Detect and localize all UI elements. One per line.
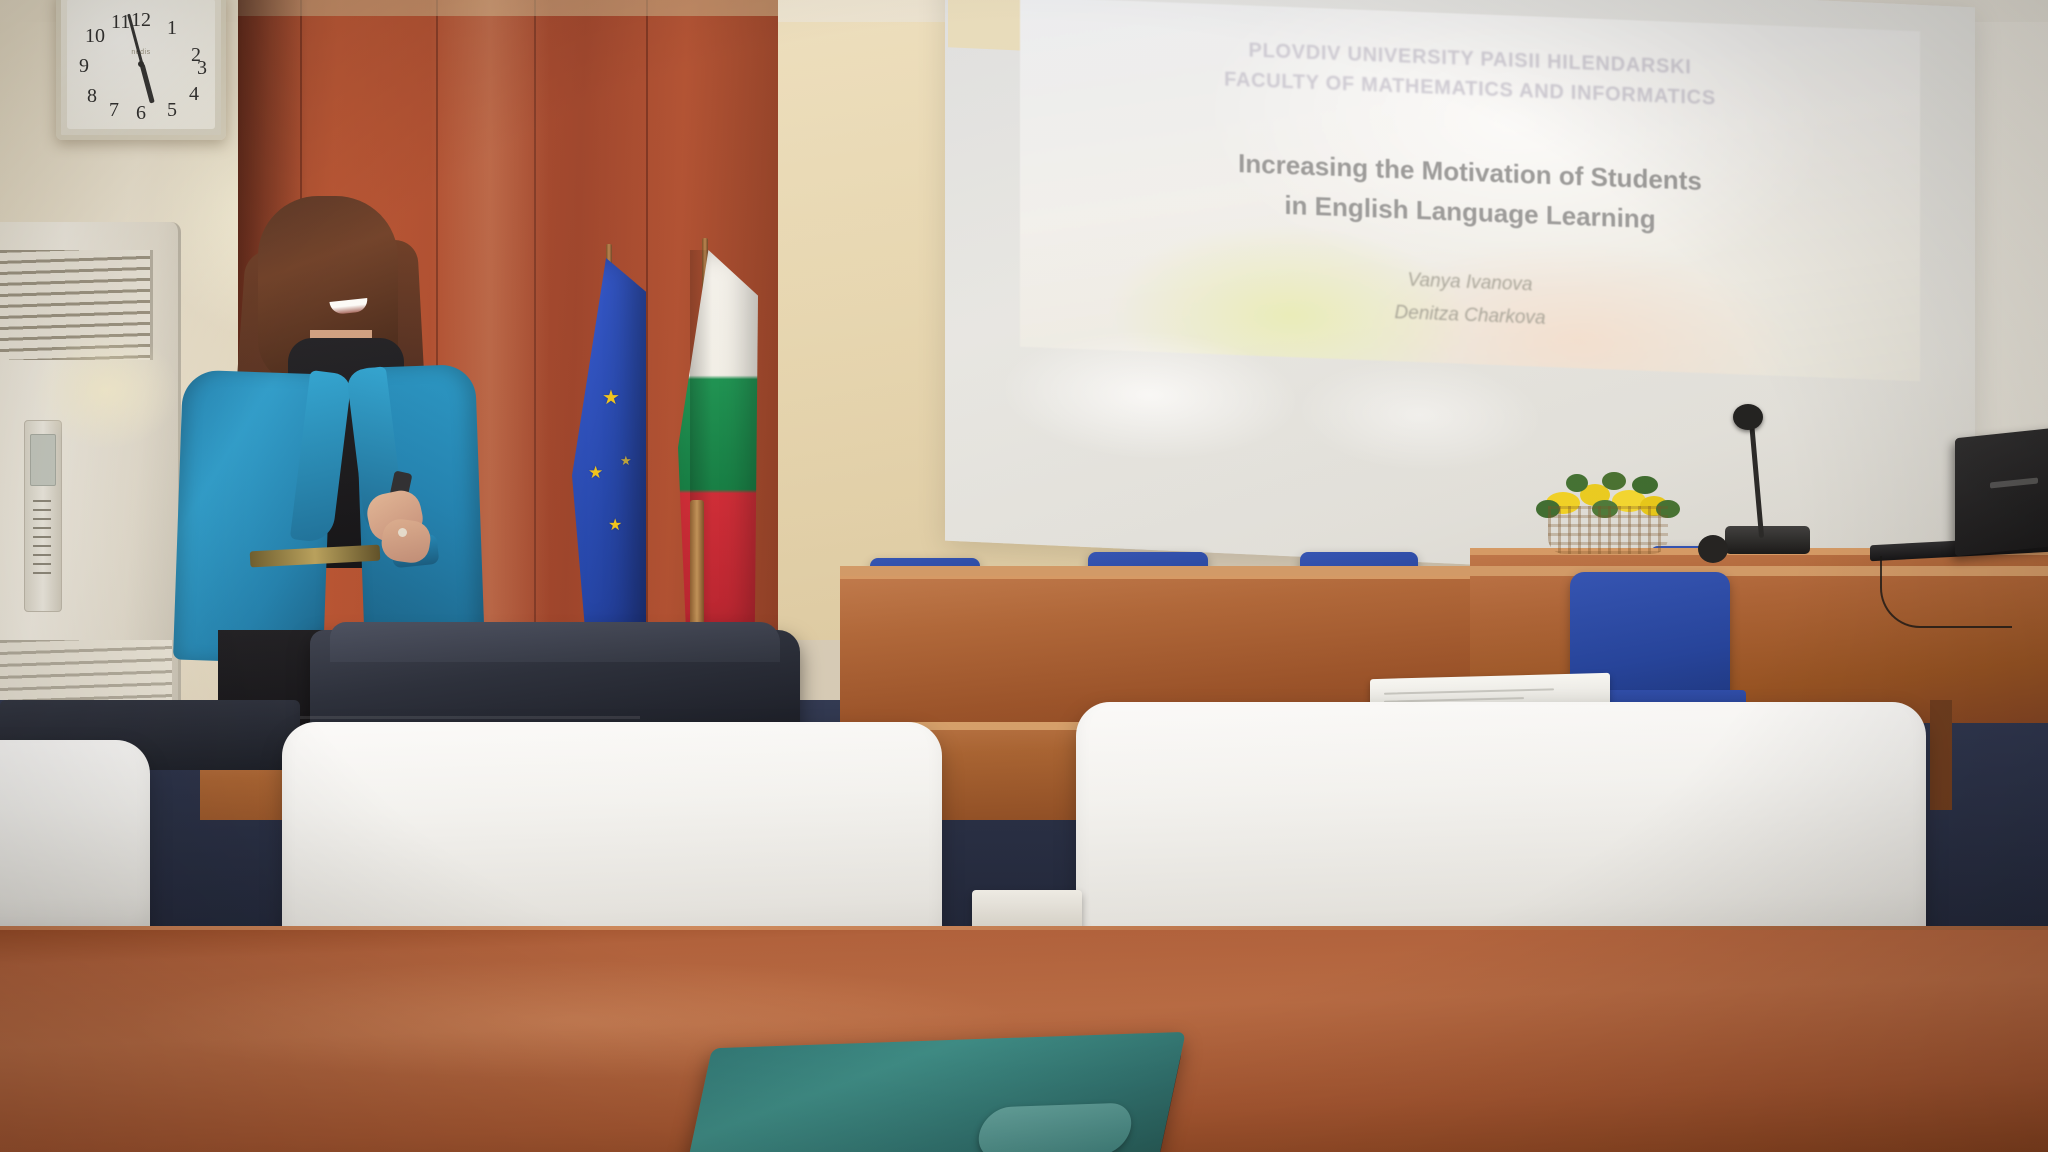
clock-numeral-9: 9 <box>79 55 89 78</box>
clock-numeral-3: 3 <box>197 57 207 80</box>
eu-star-icon: ★ <box>602 388 620 408</box>
clock-numeral-8: 8 <box>87 85 97 108</box>
clock-numeral-7: 7 <box>109 99 119 122</box>
slide-header: PLOVDIV UNIVERSITY PAISII HILENDARSKI FA… <box>1020 27 1920 122</box>
microphone-head-icon <box>1733 404 1763 430</box>
screen-glare-left <box>1000 324 1300 467</box>
eu-star-icon: ★ <box>620 454 632 467</box>
eu-star-icon: ★ <box>608 518 622 534</box>
clock-numeral-4: 4 <box>189 83 199 106</box>
clock-face: nedis 12 1 2 3 4 5 6 7 8 9 10 11 <box>67 0 215 129</box>
screen-glare-right <box>1300 355 1540 475</box>
black-laptop-bag-seam <box>300 716 640 719</box>
black-laptop-bag-flap <box>330 622 780 662</box>
air-conditioner-light-reflection <box>30 330 180 450</box>
slide-title: Increasing the Motivation of Students in… <box>1020 135 1920 250</box>
desk-leg <box>1930 700 1952 810</box>
clock-numeral-1: 1 <box>167 17 177 40</box>
clock-numeral-10: 10 <box>85 25 105 48</box>
eu-star-icon: ★ <box>588 464 603 481</box>
wicker-basket <box>1548 506 1668 554</box>
clock-center-pin <box>138 61 144 67</box>
clock-numeral-6: 6 <box>136 102 146 125</box>
black-laptop[interactable] <box>1955 426 2048 557</box>
conference-room-photo: PLOVDIV UNIVERSITY PAISII HILENDARSKI FA… <box>0 0 2048 1152</box>
bench-top-edge <box>840 566 2048 576</box>
clock-hour-hand <box>140 64 155 104</box>
air-conditioner-bottom-grill <box>0 640 172 702</box>
teal-notebook-clasp[interactable] <box>974 1102 1136 1152</box>
presentation-slide: PLOVDIV UNIVERSITY PAISII HILENDARSKI FA… <box>1020 0 1920 381</box>
power-cable <box>1880 556 2012 628</box>
microphone-base <box>1725 526 1810 554</box>
microphone-secondary-capsule <box>1698 535 1728 563</box>
clock-numeral-5: 5 <box>167 99 177 122</box>
presenter-ring <box>398 528 407 537</box>
air-conditioner-button-strip[interactable] <box>33 500 51 580</box>
wall-clock: nedis 12 1 2 3 4 5 6 7 8 9 10 11 <box>56 0 226 140</box>
